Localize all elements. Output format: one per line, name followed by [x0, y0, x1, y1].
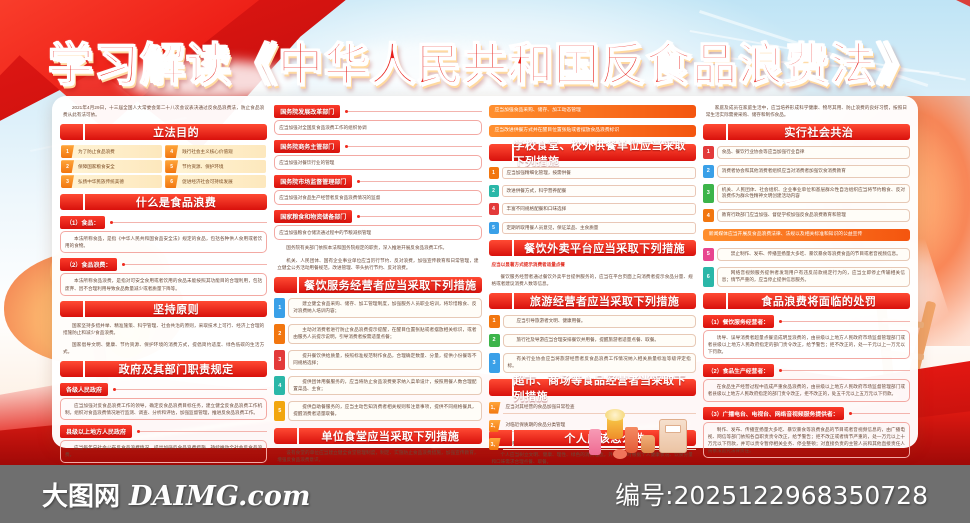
- watermark-en-text: DAIMG.com: [129, 481, 310, 512]
- dept-market-body: 应当加强对食品生产经营者反食品浪费情况的监督: [274, 190, 481, 205]
- list-item: 2 旅行社及导游应当合理安排餐饮并用餐，提醒旅游者适量点餐、取餐。: [489, 334, 696, 347]
- item-text: 主动对消费者进行防止食品浪费提示提醒，在醒目位置张贴或者摆放相关标识，或者由服务…: [288, 324, 481, 344]
- connector-line: [125, 264, 267, 265]
- dept-commerce-header: 国务院商务主管部门: [274, 140, 481, 153]
- header-accent-block: [60, 194, 83, 210]
- section-header-what-is-waste: 什么是食品浪费: [60, 194, 267, 210]
- header-accent-block: [489, 240, 512, 256]
- header-accent-block: [489, 144, 512, 161]
- penalty-catering-text: 诱导、误导消费者超量点餐造成明显浪费的，由县级以上地方人民政府市场监督管理部门或…: [708, 334, 905, 355]
- item-text: 旅行社及导游应当合理安排餐饮并用餐，提醒旅游者适量点餐、取餐。: [503, 334, 696, 347]
- item-number: 2: [489, 334, 500, 347]
- list-item: 4 提供团体用餐服务的，应当将防止食品浪费要求纳入菜单设计，按照用餐人数合理配置…: [274, 376, 481, 396]
- section-header-social-governance: 实行社会共治: [703, 124, 910, 140]
- site-watermark: 大图网 DAIMG.com: [42, 476, 310, 513]
- definition-waste-header: （2）食品浪费：: [60, 258, 267, 271]
- item-text: 禁止制作、发布、传播宣扬量大多吃、暴饮暴食等浪费食品的节目或者音视频信息。: [717, 248, 910, 261]
- definition-food-label: （1）食品：: [60, 216, 105, 229]
- dept-market-label: 国务院市场监督管理部门: [274, 175, 352, 188]
- column-4: 家庭及成员在家庭生活中，应当培养形成科学健康、物尽其用、防止浪费的良好习惯，按照…: [703, 103, 910, 441]
- section-header-penalties: 食品浪费将面临的处罚: [703, 293, 910, 309]
- item-text: 应当对其经营的食品加强日常检查: [503, 402, 696, 414]
- penalty-producer-label: （2）食品生产经营者：: [703, 364, 774, 377]
- serial-number: 编号:2025122968350728: [615, 476, 928, 512]
- item-number: 4: [703, 209, 714, 222]
- item-text: 应当加强精细化管理，按需供餐: [502, 167, 696, 179]
- item-number: 2: [489, 185, 499, 197]
- header-accent-block: [489, 379, 512, 396]
- column-2: 国务院发展改革部门 应当加强对全国反食品浪费工作的组织协调 国务院商务主管部门 …: [274, 103, 481, 441]
- dept-grain-text: 应当加强粮食仓储流通过程中的节粮减损管理: [279, 229, 476, 236]
- item-number: 1: [61, 145, 74, 158]
- item-number: 1: [489, 167, 499, 179]
- item-number: 4: [274, 376, 285, 396]
- definition-food-body: 本法所称食品，是指《中华人民共和国食品安全法》规定的食品，包括各种供人食用或者饮…: [60, 231, 267, 253]
- gov-county-body: 应当每年向社会公布反食品浪费情况，提出加强反食品浪费措施，持续推动全社会反食品浪…: [60, 440, 267, 462]
- intro-paragraph: 2021年4月29日，十三届全国人大常委会第二十八次会议表决通过反食品浪费法，防…: [60, 103, 267, 119]
- item-number: 5: [489, 222, 499, 234]
- dept-commerce-text: 应当加强对餐饮行业的管理: [279, 159, 476, 166]
- item-number: 1: [274, 298, 285, 318]
- penalty-producer-text: 在食品生产经营过程中造成严重食品浪费的，由县级以上地方人民政府市场监督管理部门或…: [708, 383, 905, 397]
- media-public-banner: 新闻媒体应当开展反食品浪费法律、法规以及相关标准和知识的公益宣传: [703, 229, 910, 242]
- dept-grain-header: 国家粮食和物资储备部门: [274, 210, 481, 223]
- gov-all-levels-text: 应当加强对反食品浪费工作的领导，确定反食品浪费目标任务，建立健全反食品浪费工作机…: [65, 402, 262, 416]
- item-text: 食品、餐饮行业协会等应当加强行业自律: [717, 146, 910, 159]
- item-text: 消费者协会和其他消费者组织应当对消费者加强饮食消费教育: [717, 165, 910, 178]
- section-header-school-canteen: 学校食堂、校外供餐单位应当采取下列措施: [489, 144, 696, 161]
- item-text: 应当引导旅游者文明、健康用餐。: [503, 315, 696, 328]
- item-number: 5: [274, 401, 285, 421]
- item-text: 定期听取用餐人员意见，保证菜品、主食质量: [502, 222, 696, 234]
- list-item: 4 践行社会主义核心价值观: [165, 145, 266, 158]
- principles-paragraph-2: 国家倡导文明、健康、节约资源、保护环境的消费方式，提倡简约适度、绿色低碳的生活方…: [60, 340, 267, 356]
- item-number: 6: [165, 175, 178, 188]
- item-text: 提升餐饮供给质量，按照标准规范制作食品，合理确定数量、分量，提供小份餐等不同规格…: [288, 350, 481, 370]
- dept-ndrc-body: 应当加强对全国反食品浪费工作的组织协调: [274, 120, 481, 135]
- connector-line: [360, 181, 481, 182]
- item-number: 1: [489, 315, 500, 328]
- section-title-government-duties: 政府及其部门职责规定: [85, 361, 267, 377]
- list-item: 2 消费者协会和其他消费者组织应当对消费者加强饮食消费教育: [703, 165, 910, 178]
- gov-county-header: 县级以上地方人民政府: [60, 425, 267, 438]
- penalty-media-body: 制作、发布、传播宣扬量大多吃、暴饮暴食等浪费食品的节目或者音视频信息的，由广播电…: [703, 422, 910, 458]
- section-header-canteen-measures: 单位食堂应当采取下列措施: [274, 428, 481, 444]
- list-item: 3 提升餐饮供给质量，按照标准规范制作食品，合理确定数量、分量，提供小份餐等不同…: [274, 350, 481, 370]
- dept-ndrc-label: 国务院发展改革部门: [274, 105, 340, 118]
- definition-food-text: 本法所称食品，是指《中华人民共和国食品安全法》规定的食品，包括各种供人食用或者饮…: [65, 235, 262, 249]
- dept-commerce-label: 国务院商务主管部门: [274, 140, 340, 153]
- definition-waste-label: （2）食品浪费：: [60, 258, 117, 271]
- section-title-school-canteen: 学校食堂、校外供餐单位应当采取下列措施: [514, 144, 696, 161]
- item-number: 3: [489, 353, 500, 373]
- gov-all-levels-label: 各级人民政府: [60, 383, 108, 396]
- dept-commerce-body: 应当加强对餐饮行业的管理: [274, 155, 481, 170]
- list-item: 3 有关行业协会应当将旅游经营者反食品浪费工作情况纳入相关质量标准等级评定指标。: [489, 353, 696, 373]
- header-accent-block: [703, 124, 726, 140]
- dept-note-2: 机关、人民团体、国有企业事业单位应当厉行节约、反对浪费，加强宣传教育和日常管理，…: [274, 256, 481, 272]
- page-title: 学习解读《中华人民共和国反食品浪费法》: [48, 28, 922, 93]
- list-item: 6 促进经济社会可持续发展: [165, 175, 266, 188]
- item-text: 机关、人民团体、社会组织、企业事业单位和基层群众性自治组织应当将节约粮食、反对浪…: [717, 184, 910, 204]
- watermark-cn-text: 大图网: [42, 476, 120, 513]
- item-number: 5: [703, 248, 714, 261]
- section-title-social-governance: 实行社会共治: [728, 124, 910, 140]
- list-item: 2 保障国家粮食安全: [61, 160, 162, 173]
- platform-highlight-text: 应当以显著方式提示消费者适量点餐: [489, 260, 696, 269]
- section-title-personal: 个人应该怎么做: [514, 430, 696, 446]
- penalty-catering-header: （1）餐饮服务经营者：: [703, 315, 910, 328]
- section-header-takeout-platform: 餐饮外卖平台应当采取下列措施: [489, 240, 696, 256]
- column-3: 应当加强食品采购、储存、加工动态管理 应当改进供餐方式并在醒目位置张贴或者摆放食…: [489, 103, 696, 441]
- list-item: 3 弘扬中华民族传统美德: [61, 175, 162, 188]
- list-item: 1 食品、餐饮行业协会等应当加强行业自律: [703, 146, 910, 159]
- section-title-legislative-purpose: 立法目的: [85, 124, 267, 140]
- section-header-tourism: 旅游经营者应当采取下列措施: [489, 293, 696, 309]
- dept-market-text: 应当加强对食品生产经营者反食品浪费情况的监督: [279, 194, 476, 201]
- list-item: 5 定期听取用餐人员意见，保证菜品、主食质量: [489, 222, 696, 234]
- list-item: 2 主动对消费者进行防止食品浪费提示提醒，在醒目位置张贴或者摆放相关标识，或者由…: [274, 324, 481, 344]
- section-title-tourism: 旅游经营者应当采取下列措施: [514, 293, 696, 309]
- header-accent-block: [60, 124, 83, 140]
- section-title-what-is-waste: 什么是食品浪费: [85, 194, 267, 210]
- column-1: 2021年4月29日，十三届全国人大常委会第二十八次会议表决通过反食品浪费法，防…: [60, 103, 267, 441]
- section-header-catering-measures: 餐饮服务经营者应当采取下列措施: [274, 277, 481, 293]
- header-accent-block: [703, 293, 726, 309]
- canteen-measure-pill-2: 应当改进供餐方式并在醒目位置张贴或者摆放食品浪费标识: [489, 125, 696, 138]
- section-header-government-duties: 政府及其部门职责规定: [60, 361, 267, 377]
- legislative-purpose-list: 1 为了防止食品浪费 4 践行社会主义核心价值观 2 保障国家粮食安全 5 节约…: [60, 144, 267, 189]
- gov-county-label: 县级以上地方人民政府: [60, 425, 132, 438]
- list-item: 5 节约资源、保护环境: [165, 160, 266, 173]
- list-item: 1 为了防止食品浪费: [61, 145, 162, 158]
- section-header-principles: 坚持原则: [60, 301, 267, 317]
- watermark-bar: 大图网 DAIMG.com 编号:2025122968350728: [0, 465, 970, 523]
- item-number: 3: [703, 184, 714, 204]
- list-item: 2 改进供餐方式，科学营养配餐: [489, 185, 696, 197]
- item-label: 为了防止食品浪费: [74, 149, 115, 155]
- list-item: 1、 应当对其经营的食品加强日常检查: [489, 402, 696, 414]
- item-number: 2: [61, 160, 74, 173]
- header-accent-block: [274, 428, 297, 444]
- section-title-canteen-measures: 单位食堂应当采取下列措施: [299, 428, 481, 444]
- item-text: 网络音视频服务提供者发现用户有违反前款规定行为的，应当立即停止传输相关信息；情节…: [717, 267, 910, 287]
- list-item: 5 提供自助餐服务的，应当主动告知消费者相关规则和注意事项，提供不同规格餐具，提…: [274, 401, 481, 421]
- platform-text: 餐饮服务经营者通过餐饮外卖平台提供服务的，应当在平台页面上向消费者提示食品分量、…: [489, 272, 696, 288]
- item-number: 5: [165, 160, 178, 173]
- connector-line: [348, 146, 481, 147]
- penalty-producer-header: （2）食品生产经营者：: [703, 364, 910, 377]
- definition-food-header: （1）食品：: [60, 216, 267, 229]
- gov-all-levels-header: 各级人民政府: [60, 383, 267, 396]
- list-item: 3 机关、人民团体、社会组织、企业事业单位和基层群众性自治组织应当将节约粮食、反…: [703, 184, 910, 204]
- connector-line: [782, 370, 910, 371]
- content-board: 2021年4月29日，十三届全国人大常委会第二十八次会议表决通过反食品浪费法，防…: [52, 96, 918, 448]
- definition-waste-body: 本法所称食品浪费，是指对可安全食用或者饮用的食品未能按照其功能目的合理利用，包括…: [60, 273, 267, 295]
- canteen-measure-pill-1: 应当加强食品采购、储存、加工动态管理: [489, 105, 696, 118]
- family-text: 家庭及成员在家庭生活中，应当培养形成科学健康、物尽其用、防止浪费的良好习惯，按照…: [703, 103, 910, 119]
- item-text: 有关行业协会应当将旅游经营者反食品浪费工作情况纳入相关质量标准等级评定指标。: [503, 353, 696, 373]
- section-title-catering-measures: 餐饮服务经营者应当采取下列措施: [299, 277, 481, 293]
- section-title-supermarket: 超市、商场等食品经营者当采取下列措施: [514, 379, 696, 396]
- list-item: 1 应当引导旅游者文明、健康用餐。: [489, 315, 696, 328]
- item-number: 1、: [489, 402, 501, 414]
- list-item: 1 应当加强精细化管理，按需供餐: [489, 167, 696, 179]
- personal-text: 个人应当树立文明、健康、理性、绿色的消费理念，外出就餐时根据个人健康状况、饮食分…: [489, 450, 696, 466]
- header-accent-block: [60, 361, 83, 377]
- dept-ndrc-header: 国务院发展改革部门: [274, 105, 481, 118]
- connector-line: [113, 222, 267, 223]
- item-label: 节约资源、保护环境: [178, 164, 223, 170]
- section-header-personal: 个人应该怎么做: [489, 430, 696, 446]
- list-item: 6 网络音视频服务提供者发现用户有违反前款规定行为的，应当立即停止传输相关信息；…: [703, 267, 910, 287]
- connector-line: [116, 389, 267, 390]
- canteen-intro-text: 设有食堂的单位应当建立健全食堂管理制度，制定、实施防止食品浪费措施，加强宣传教育…: [274, 448, 481, 464]
- connector-line: [360, 216, 481, 217]
- item-number: 4: [165, 145, 178, 158]
- penalty-producer-body: 在食品生产经营过程中造成严重食品浪费的，由县级以上地方人民政府市场监督管理部门或…: [703, 379, 910, 401]
- item-text: 建立健全食品采购、储存、加工管理制度，加强服务人员职业培训，将珍惜粮食、反对浪费…: [288, 298, 481, 318]
- list-item: 4 教育行政部门应当加强、督促学校加强反食品浪费教育和管理: [703, 209, 910, 222]
- connector-line: [852, 413, 910, 414]
- item-number: 2: [703, 165, 714, 178]
- dept-note-1: 国务院有关部门依照本法和国务院规定的职责，深入推进开展反食品浪费工作。: [274, 243, 481, 252]
- item-number: 2: [274, 324, 285, 344]
- gov-county-text: 应当每年向社会公布反食品浪费情况，提出加强反食品浪费措施，持续推动全社会反食品浪…: [65, 444, 262, 458]
- item-label: 践行社会主义核心价值观: [178, 149, 233, 155]
- section-title-principles: 坚持原则: [85, 301, 267, 317]
- section-header-supermarket: 超市、商场等食品经营者当采取下列措施: [489, 379, 696, 396]
- principles-paragraph-1: 国家坚持多措并举、精准施策、科学管理、社会共治的原则，采取技术上可行、经济上合理…: [60, 321, 267, 337]
- item-number: 4: [489, 203, 499, 215]
- connector-line: [140, 431, 267, 432]
- item-number: 3: [61, 175, 74, 188]
- item-text: 提供自助餐服务的，应当主动告知消费者相关规则和注意事项，提供不同规格餐具，提醒消…: [288, 401, 481, 421]
- list-item: 1 建立健全食品采购、储存、加工管理制度，加强服务人员职业培训，将珍惜粮食、反对…: [274, 298, 481, 318]
- item-text: 丰富不同规格配餐和口味选择: [502, 203, 696, 215]
- item-number: 6: [703, 267, 714, 287]
- header-accent-block: [60, 301, 83, 317]
- item-text: 提供团体用餐服务的，应当将防止食品浪费要求纳入菜单设计，按照用餐人数合理配置菜品…: [288, 376, 481, 396]
- item-text: 改进供餐方式，科学营养配餐: [502, 185, 696, 197]
- title-area: 学习解读《中华人民共和国反食品浪费法》: [0, 28, 970, 93]
- dept-market-header: 国务院市场监督管理部门: [274, 175, 481, 188]
- header-accent-block: [274, 277, 297, 293]
- item-label: 保障国家粮食安全: [74, 164, 115, 170]
- header-accent-block: [489, 293, 512, 309]
- definition-waste-text: 本法所称食品浪费，是指对可安全食用或者饮用的食品未能按照其功能目的合理利用，包括…: [65, 277, 262, 291]
- item-label: 促进经济社会可持续发展: [178, 179, 233, 185]
- connector-line: [782, 321, 910, 322]
- item-number: 3: [274, 350, 285, 370]
- item-number: 1: [703, 146, 714, 159]
- dept-grain-body: 应当加强粮食仓储流通过程中的节粮减损管理: [274, 225, 481, 240]
- penalty-media-label: （3）广播电台、电视台、网络音视频服务提供者：: [703, 407, 844, 420]
- item-label: 弘扬中华民族传统美德: [74, 179, 124, 185]
- penalty-media-header: （3）广播电台、电视台、网络音视频服务提供者：: [703, 407, 910, 420]
- list-item: 4 丰富不同规格配餐和口味选择: [489, 203, 696, 215]
- section-title-takeout-platform: 餐饮外卖平台应当采取下列措施: [514, 240, 696, 256]
- item-number: 3、: [489, 438, 501, 450]
- section-title-penalties: 食品浪费将面临的处罚: [728, 293, 910, 309]
- list-item: 5 禁止制作、发布、传播宣扬量大多吃、暴饮暴食等浪费食品的节目或者音视频信息。: [703, 248, 910, 261]
- penalty-media-text: 制作、发布、传播宣扬量大多吃、暴饮暴食等浪费食品的节目或者音视频信息的，由广播电…: [708, 426, 905, 454]
- item-text: 教育行政部门应当加强、督促学校加强反食品浪费教育和管理: [717, 209, 910, 222]
- poster-canvas: 学习解读《中华人民共和国反食品浪费法》 2021年4月29日，十三届全国人大常委…: [0, 0, 970, 523]
- dept-grain-label: 国家粮食和物资储备部门: [274, 210, 352, 223]
- gov-all-levels-body: 应当加强对反食品浪费工作的领导，确定反食品浪费目标任务，建立健全反食品浪费工作机…: [60, 398, 267, 420]
- penalty-catering-body: 诱导、误导消费者超量点餐造成明显浪费的，由县级以上地方人民政府市场监督管理部门或…: [703, 330, 910, 359]
- penalty-catering-label: （1）餐饮服务经营者：: [703, 315, 774, 328]
- section-header-legislative-purpose: 立法目的: [60, 124, 267, 140]
- dept-ndrc-text: 应当加强对全国反食品浪费工作的组织协调: [279, 124, 476, 131]
- connector-line: [348, 111, 481, 112]
